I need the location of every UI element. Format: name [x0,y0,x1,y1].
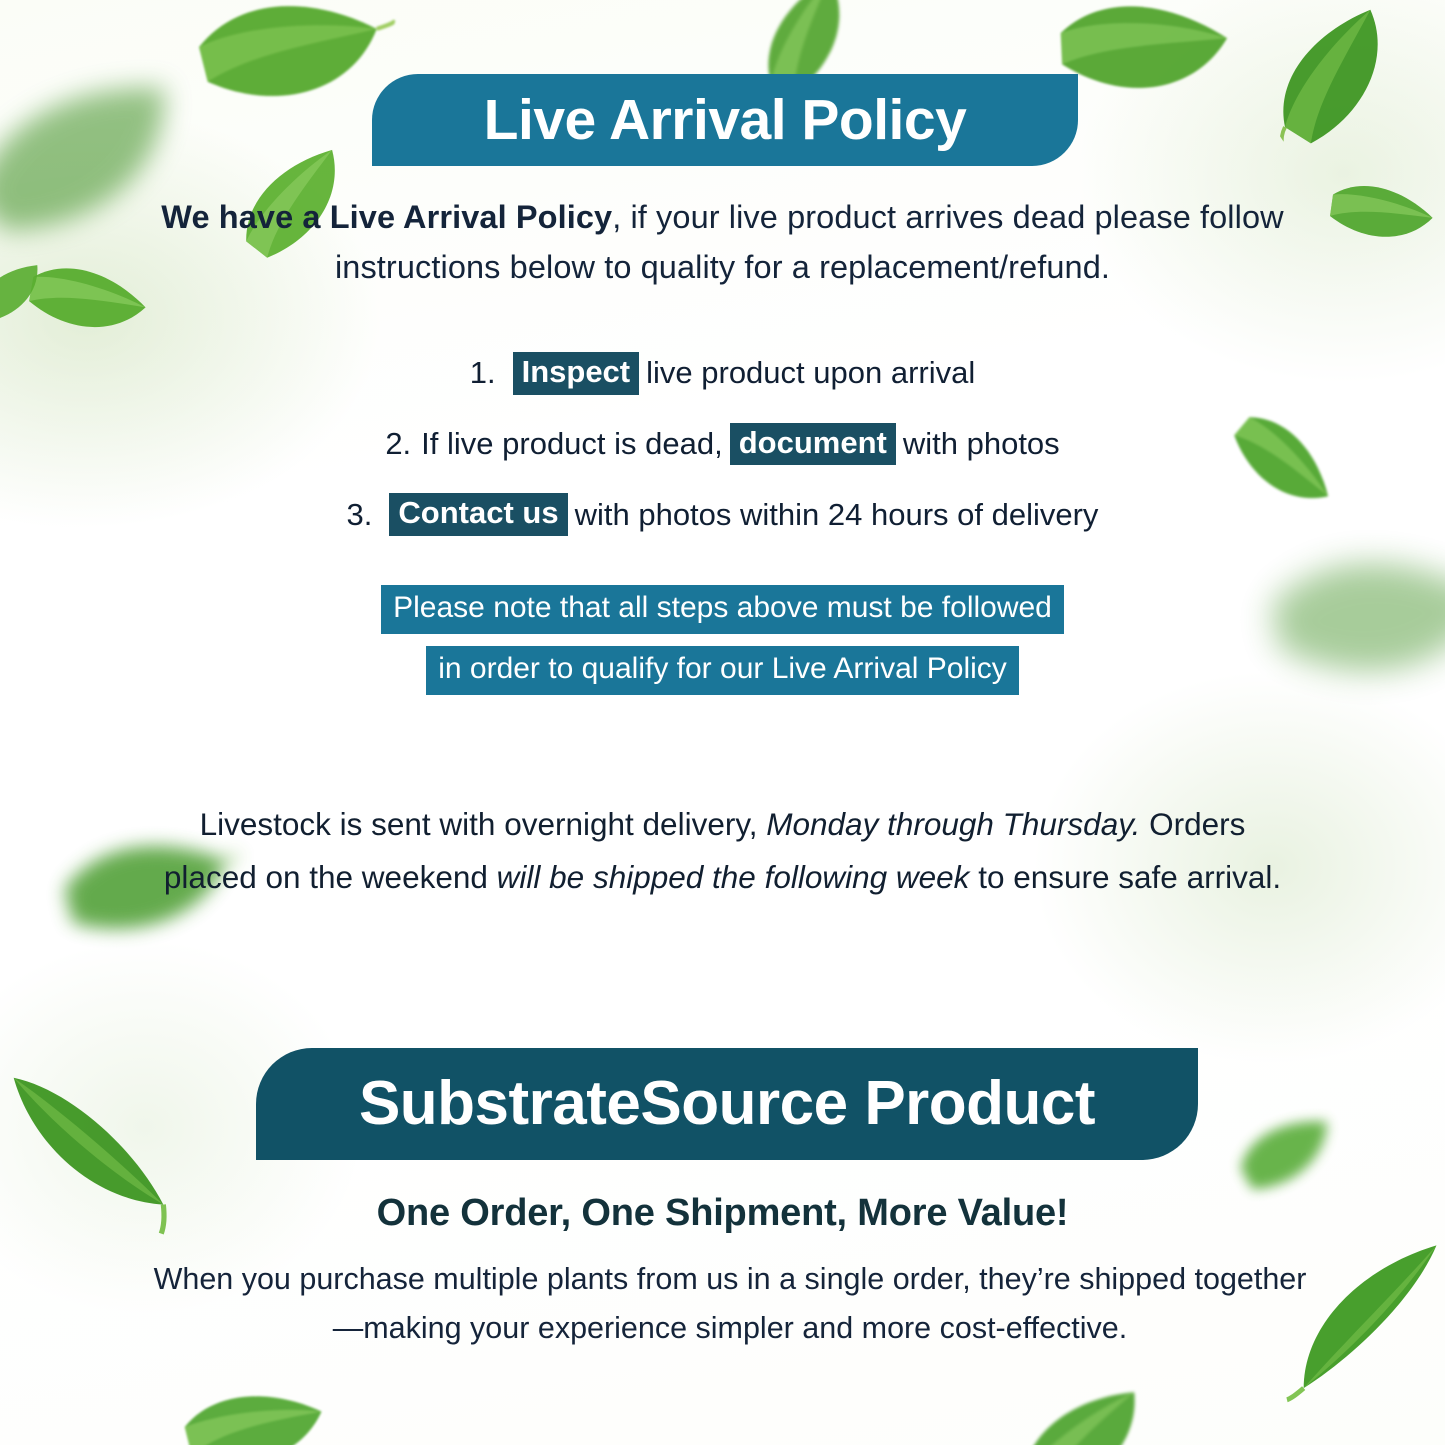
step-number: 1. [470,355,496,391]
livestock-part-1: Livestock is sent with overnight deliver… [200,806,767,842]
step-highlight-contact-us[interactable]: Contact us [389,493,567,536]
live-arrival-policy-page: Live Arrival Policy We have a Live Arriv… [0,0,1445,1445]
livestock-shipping-paragraph: Livestock is sent with overnight deliver… [150,798,1295,904]
note-row-1: Please note that all steps above must be… [150,585,1295,634]
note-line-2: in order to qualify for our Live Arrival… [426,646,1019,695]
note-row-2: in order to qualify for our Live Arrival… [150,646,1295,695]
livestock-part-3: to ensure safe arrival. [969,859,1281,895]
step-text-before: If live product is dead, [421,426,723,462]
list-item: 1. Inspect live product upon arrival [150,352,1295,395]
step-text-after: with photos within 24 hours of delivery [575,497,1099,533]
live-arrival-policy-banner: Live Arrival Policy [372,74,1078,166]
live-arrival-policy-title: Live Arrival Policy [484,92,967,149]
intro-paragraph: We have a Live Arrival Policy, if your l… [150,192,1295,293]
value-subheading: One Order, One Shipment, More Value! [150,1192,1295,1235]
livestock-italic-2: will be shipped the following week [497,859,970,895]
policy-note-block: Please note that all steps above must be… [150,585,1295,707]
note-line-1: Please note that all steps above must be… [381,585,1064,634]
step-number: 3. [347,497,373,533]
substratesource-product-title: SubstrateSource Product [359,1073,1095,1135]
step-text-after: with photos [903,426,1060,462]
step-text-after: live product upon arrival [646,355,975,391]
intro-emphasis: We have a Live Arrival Policy [161,199,612,235]
step-highlight-inspect[interactable]: Inspect [513,352,640,395]
closing-paragraph: When you purchase multiple plants from u… [150,1255,1310,1354]
substratesource-product-banner: SubstrateSource Product [256,1048,1198,1160]
policy-steps-list: 1. Inspect live product upon arrival 2. … [150,352,1295,564]
livestock-italic-1: Monday through Thursday. [766,806,1140,842]
list-item: 3. Contact us with photos within 24 hour… [150,493,1295,536]
step-number: 2. [385,426,411,462]
list-item: 2. If live product is dead, document wit… [150,423,1295,466]
step-highlight-document[interactable]: document [730,423,896,466]
